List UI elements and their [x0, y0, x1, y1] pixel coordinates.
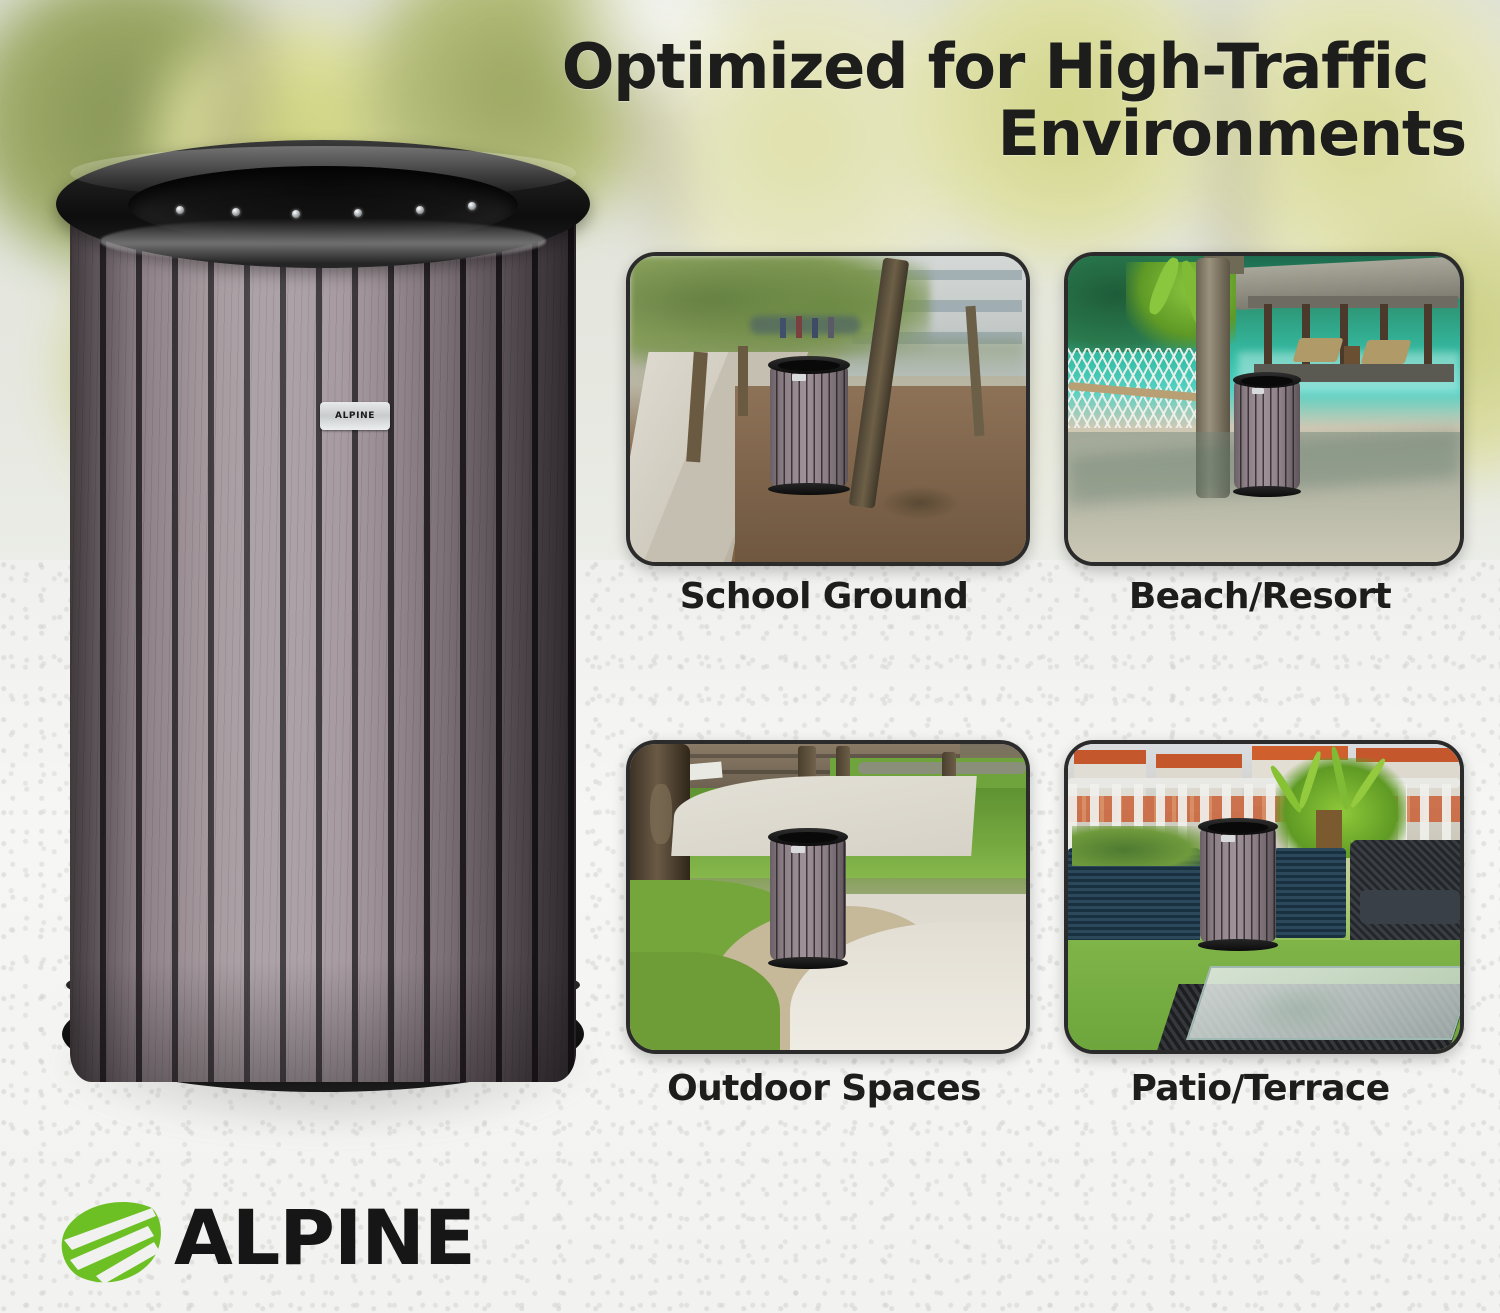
use-case-card-patio-terrace[interactable] — [1064, 740, 1464, 1054]
leaf-icon — [56, 1196, 166, 1286]
page-title: Optimized for High-Traffic Environments — [520, 34, 1470, 168]
scene-outdoor-spaces — [630, 744, 1026, 1050]
scene-beach-resort — [1068, 256, 1460, 562]
product-brand-badge-label: ALPINE — [335, 411, 375, 421]
product-body-slats — [70, 192, 576, 1082]
brand-logo-text: ALPINE — [174, 1200, 475, 1276]
use-case-card-beach-resort[interactable] — [1064, 252, 1464, 566]
product-in-scene-beach-resort — [1234, 372, 1300, 496]
use-case-label-beach-resort: Beach/Resort — [1064, 576, 1456, 617]
product-top-rim — [56, 140, 590, 268]
headline-line-2: Environments — [520, 101, 1470, 168]
product-in-scene-school-ground — [770, 356, 848, 494]
use-case-label-school-ground: School Ground — [626, 576, 1022, 617]
brand-logo: ALPINE — [56, 1196, 516, 1288]
use-case-card-school-ground[interactable] — [626, 252, 1030, 566]
marketing-image: Optimized for High-Traffic Environments — [0, 0, 1500, 1313]
scene-patio-terrace — [1068, 744, 1460, 1050]
use-case-label-outdoor-spaces: Outdoor Spaces — [626, 1068, 1022, 1109]
product-hero-image: ALPINE — [48, 140, 598, 1130]
product-in-scene-patio-terrace — [1200, 818, 1276, 950]
scene-school-ground — [630, 256, 1026, 562]
use-case-label-patio-terrace: Patio/Terrace — [1064, 1068, 1456, 1109]
headline-line-1: Optimized for High-Traffic — [520, 34, 1470, 101]
product-in-scene-outdoor-spaces — [770, 828, 846, 968]
use-case-card-outdoor-spaces[interactable] — [626, 740, 1030, 1054]
rim-screws — [176, 202, 476, 222]
product-brand-badge: ALPINE — [320, 402, 390, 430]
